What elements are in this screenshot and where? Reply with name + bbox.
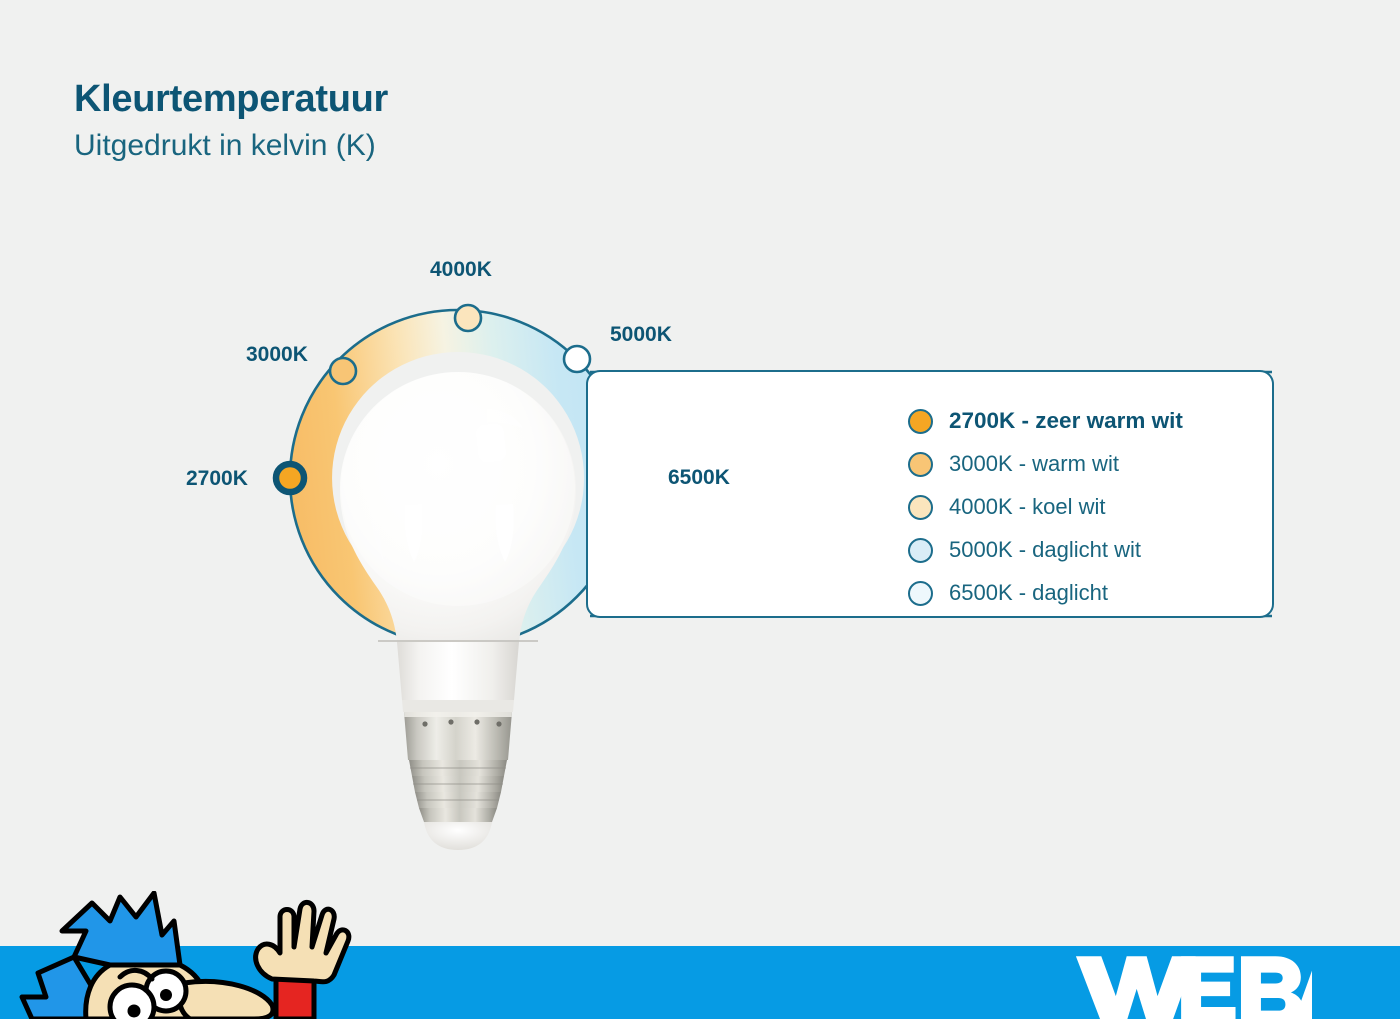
mascot-hair: [62, 893, 180, 965]
legend-list: 2700K - zeer warm wit 3000K - warm wit 4…: [908, 402, 1183, 612]
legend-label-4000k: 4000K - koel wit: [949, 494, 1106, 520]
legend-swatch-2700k: [908, 409, 933, 434]
legend-panel: 2700K - zeer warm wit 3000K - warm wit 4…: [586, 370, 1274, 618]
legend-swatch-4000k: [908, 495, 933, 520]
color-temperature-diagram: 2700K 3000K 4000K 5000K 6500K 2700K - ze…: [0, 0, 1400, 946]
legend-item-5000k[interactable]: 5000K - daglicht wit: [908, 531, 1183, 569]
mascot-hand: [256, 902, 349, 981]
circle-label-4000k: 4000K: [430, 258, 492, 282]
legend-swatch-5000k: [908, 538, 933, 563]
legend-swatch-3000k: [908, 452, 933, 477]
circle-label-5000k: 5000K: [610, 323, 672, 347]
legend-label-3000k: 3000K - warm wit: [949, 451, 1119, 477]
legend-item-3000k[interactable]: 3000K - warm wit: [908, 445, 1183, 483]
legend-item-4000k[interactable]: 4000K - koel wit: [908, 488, 1183, 526]
legend-label-5000k: 5000K - daglicht wit: [949, 537, 1141, 563]
legend-item-2700k[interactable]: 2700K - zeer warm wit: [908, 402, 1183, 440]
marker-2700k-active[interactable]: [276, 464, 304, 492]
legend-label-2700k: 2700K - zeer warm wit: [949, 408, 1183, 434]
mascot-nose: [179, 981, 273, 1019]
circle-label-3000k: 3000K: [246, 343, 308, 367]
mascot-hair-side: [22, 957, 92, 1019]
marker-5000k[interactable]: [564, 346, 590, 372]
marker-4000k[interactable]: [455, 305, 481, 331]
circle-label-6500k: 6500K: [668, 466, 730, 490]
marker-3000k[interactable]: [330, 358, 356, 384]
legend-item-6500k[interactable]: 6500K - daglicht: [908, 574, 1183, 612]
weba-logo: [1072, 949, 1312, 1019]
mascot-sleeve: [276, 979, 314, 1019]
legend-label-6500k: 6500K - daglicht: [949, 580, 1108, 606]
circle-label-2700k: 2700K: [186, 467, 248, 491]
weba-mascot: [14, 891, 354, 1019]
legend-swatch-6500k: [908, 581, 933, 606]
